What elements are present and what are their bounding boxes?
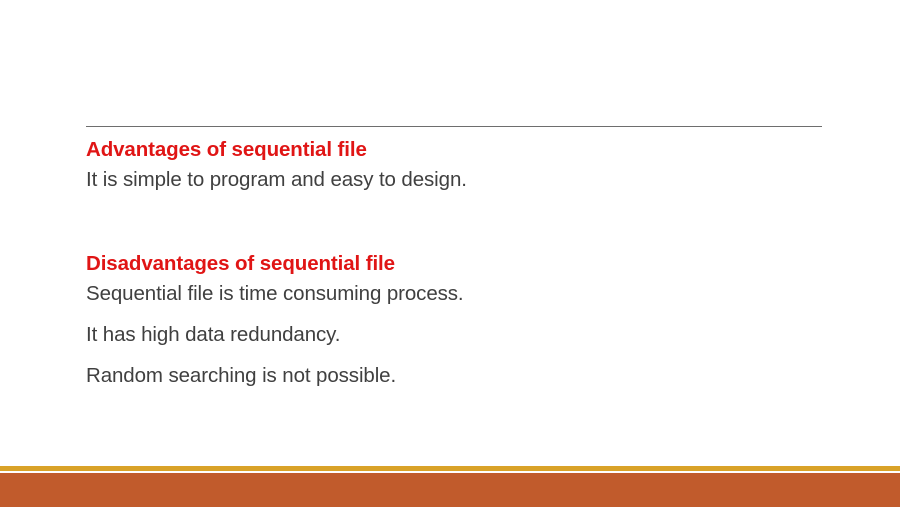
disadvantages-line-2: It has high data redundancy. — [86, 321, 826, 349]
advantages-heading: Advantages of sequential file — [86, 136, 826, 164]
section-spacer — [86, 194, 826, 250]
disadvantages-heading: Disadvantages of sequential file — [86, 250, 826, 278]
slide-canvas: Advantages of sequential file It is simp… — [0, 0, 900, 507]
slide-body-content[interactable]: Advantages of sequential file It is simp… — [86, 136, 826, 390]
disadvantages-line-1: Sequential file is time consuming proces… — [86, 280, 826, 308]
advantages-line-1: It is simple to program and easy to desi… — [86, 166, 826, 194]
slide-title-placeholder[interactable] — [86, 24, 822, 118]
footer-gold-bar — [0, 466, 900, 471]
title-divider-rule — [86, 126, 822, 127]
footer-orange-bar — [0, 473, 900, 507]
disadvantages-line-3: Random searching is not possible. — [86, 362, 826, 390]
